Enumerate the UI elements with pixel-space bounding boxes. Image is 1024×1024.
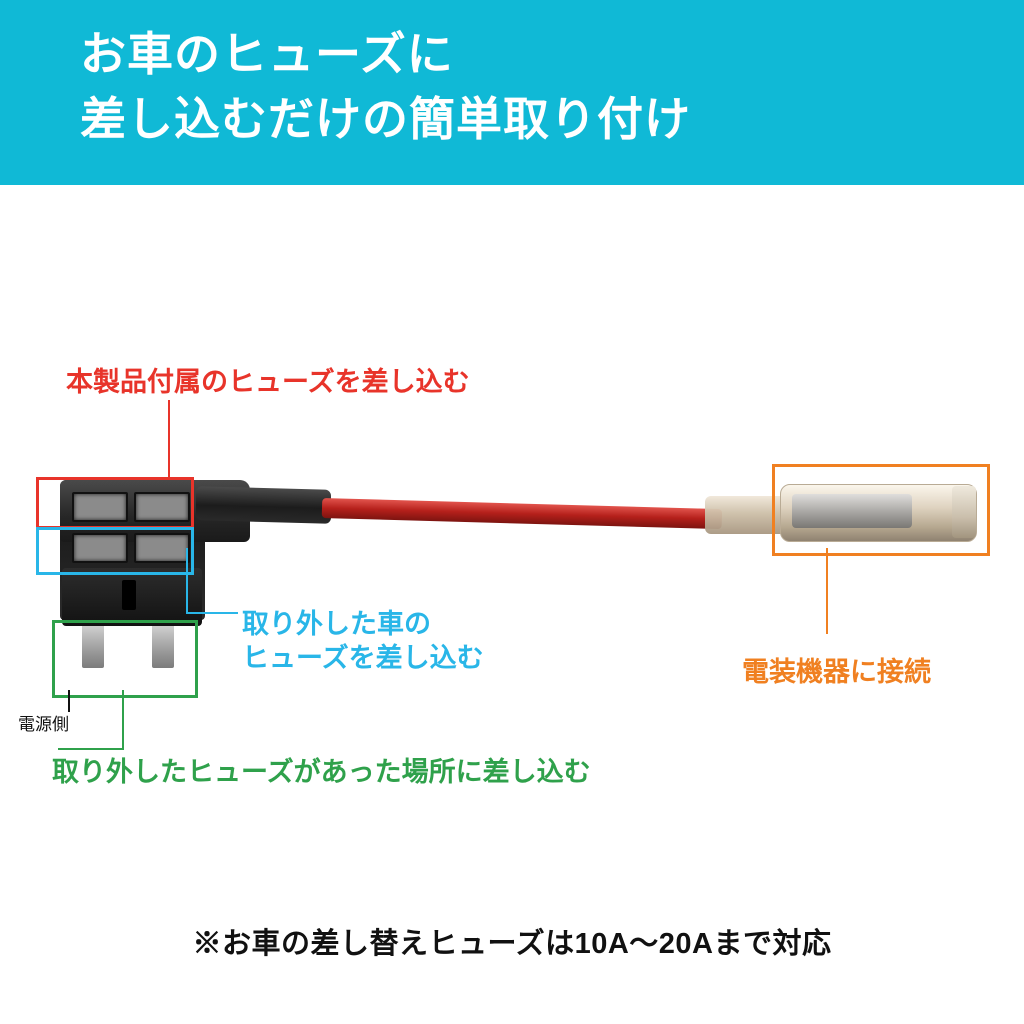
leader-line-green-horizontal (58, 748, 124, 750)
leader-line-orange (826, 548, 828, 634)
red-lead-wire (322, 498, 722, 529)
footer-note: ※お車の差し替えヒューズは10A〜20Aまで対応 (0, 920, 1024, 962)
highlight-box-blade-terminals (52, 620, 198, 698)
header-banner: お車のヒューズに 差し込むだけの簡単取り付け (0, 0, 1024, 185)
callout-label-vehicle-fuse: 取り外した車の ヒューズを差し込む (242, 608, 484, 676)
highlight-box-fuse-included (36, 477, 194, 529)
header-title: お車のヒューズに 差し込むだけの簡単取り付け (80, 22, 691, 153)
leader-line-blue-vertical (186, 548, 188, 614)
leader-line-power-side (68, 690, 70, 712)
callout-label-insert-location: 取り外したヒューズがあった場所に差し込む (52, 756, 591, 790)
highlight-box-connector (772, 464, 990, 556)
callout-label-device-connection: 電装機器に接続 (742, 656, 931, 690)
fuse-tap-notch (122, 580, 136, 610)
callout-label-power-side: 電源側 (18, 710, 69, 735)
cable-boot (196, 486, 331, 524)
product-info-graphic: お車のヒューズに 差し込むだけの簡単取り付け 本製品付属のヒューズを差し込む 取… (0, 0, 1024, 1024)
callout-label-fuse-included: 本製品付属のヒューズを差し込む (66, 366, 470, 400)
highlight-box-vehicle-fuse (36, 527, 194, 575)
leader-line-green-vertical (122, 690, 124, 750)
leader-line-red (168, 400, 170, 478)
leader-line-blue-horizontal (186, 612, 238, 614)
